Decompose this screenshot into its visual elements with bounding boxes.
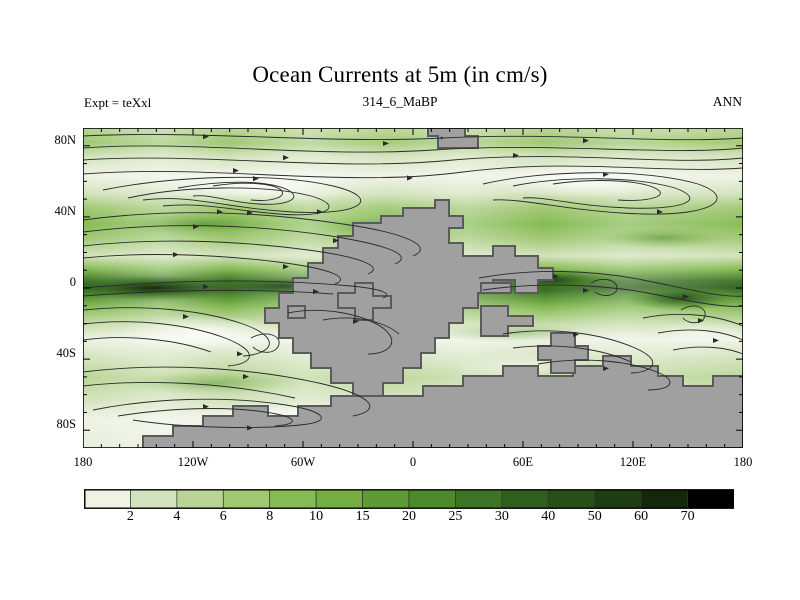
period-label: ANN [713,94,742,110]
ytick-label-0: 0 [30,275,76,290]
colorbar-band-1 [130,490,176,508]
ytick-label-40s: 40S [30,346,76,361]
colorbar-band-2 [177,490,223,508]
colorbar-band-6 [363,490,409,508]
ytick-label-40n: 40N [30,204,76,219]
colorbar-band-11 [595,490,641,508]
colorbar-tick-60: 60 [621,509,661,525]
colorbar-tick-30: 30 [482,509,522,525]
colorbar-tick-2: 2 [110,509,150,525]
colorbar-band-0 [84,490,130,508]
experiment-label: Expt = teXxl [84,95,151,111]
xtick-label-60w: 60W [273,455,333,470]
colorbar-tick-10: 10 [296,509,336,525]
ytick-label-80s: 80S [30,417,76,432]
colorbar-tick-20: 20 [389,509,429,525]
colorbar-band-9 [502,490,548,508]
colorbar-tick-15: 15 [343,509,383,525]
colorbar-tick-4: 4 [157,509,197,525]
figure-canvas: Ocean Currents at 5m (in cm/s) 314_6_MaB… [0,0,800,600]
xtick-label-120w: 120W [163,455,223,470]
colorbar-band-8 [455,490,501,508]
colorbar-band-3 [223,490,269,508]
xtick-label-0: 0 [383,455,443,470]
xtick-label-180w: 180 [53,455,113,470]
colorbar-band-13 [688,490,734,508]
colorbar-tick-8: 8 [250,509,290,525]
ytick-label-80n: 80N [30,133,76,148]
colorbar [84,489,734,509]
colorbar-band-7 [409,490,455,508]
colorbar-band-4 [270,490,316,508]
colorbar-band-10 [548,490,594,508]
xtick-label-180e: 180 [713,455,773,470]
colorbar-tick-70: 70 [668,509,708,525]
colorbar-band-5 [316,490,362,508]
colorbar-band-12 [641,490,687,508]
page-title: Ocean Currents at 5m (in cm/s) [0,62,800,88]
colorbar-tick-25: 25 [435,509,475,525]
xtick-label-60e: 60E [493,455,553,470]
colorbar-tick-50: 50 [575,509,615,525]
xtick-label-120e: 120E [603,455,663,470]
map-plot-area [83,128,743,448]
colorbar-tick-40: 40 [528,509,568,525]
colorbar-tick-6: 6 [203,509,243,525]
kuroshio-extension [593,227,733,249]
